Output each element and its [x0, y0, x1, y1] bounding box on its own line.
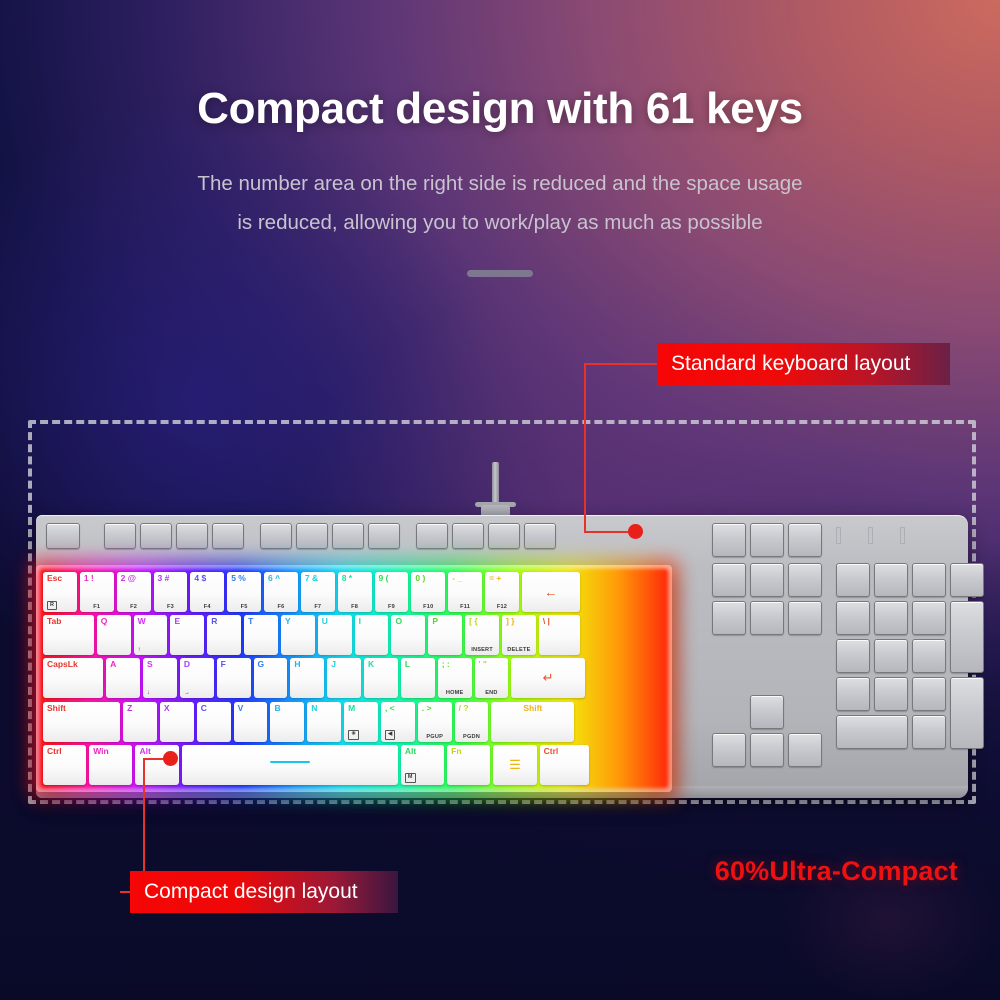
key-4-r0[interactable]: 4 $F4: [190, 572, 224, 612]
key-I-r1[interactable]: I: [355, 615, 389, 655]
key-Alt-r4[interactable]: AltM: [401, 745, 444, 785]
key-sublegend: ↓: [147, 690, 150, 696]
key-legend: \ |: [543, 617, 550, 626]
callout-dot-top: [628, 524, 643, 539]
full-key-numpad: [874, 563, 908, 597]
key-legend: Alt: [405, 747, 416, 756]
key-legend: W: [138, 617, 146, 626]
key-1-r0[interactable]: 1 !F1: [80, 572, 114, 612]
key-G-r2[interactable]: G: [254, 658, 288, 698]
key-U-r1[interactable]: U: [318, 615, 352, 655]
key-legend: H: [294, 660, 300, 669]
compact-60-keyboard: EscR1 !F12 @F23 #F34 $F45 %F56 ^F67 &F78…: [36, 565, 672, 792]
subtitle-line-1: The number area on the right side is red…: [0, 174, 1000, 195]
leader-line-top-a: [584, 363, 659, 365]
key-E-r1[interactable]: E: [170, 615, 204, 655]
full-key-f1: [104, 523, 136, 549]
key-sublegend: F10: [411, 604, 445, 610]
key--r0[interactable]: ←: [522, 572, 580, 612]
key-sublegend: END: [475, 690, 509, 696]
key--r2[interactable]: ; :HOME: [438, 658, 472, 698]
full-key-arrow: [712, 733, 746, 767]
key-legend: Esc: [47, 574, 62, 583]
key-legend: ] }: [506, 617, 515, 626]
key--r1[interactable]: \ |: [539, 615, 580, 655]
full-key-f5: [260, 523, 292, 549]
key-3-r0[interactable]: 3 #F3: [154, 572, 188, 612]
full-key-numpad-enter: [950, 677, 984, 749]
key-legend: I: [359, 617, 361, 626]
full-key-f10: [452, 523, 484, 549]
key-W-r1[interactable]: W↑: [134, 615, 168, 655]
full-key-nav: [788, 563, 822, 597]
key-sublegend: ◀: [385, 730, 395, 739]
full-key-esc: [46, 523, 80, 549]
key--r3[interactable]: , <◀: [381, 702, 415, 742]
key-legend: ☰: [493, 757, 536, 773]
key-legend: G: [258, 660, 265, 669]
indicator-led-4: [900, 527, 905, 544]
key-B-r3[interactable]: B: [270, 702, 304, 742]
full-key-arrow-up: [750, 695, 784, 729]
key-legend: 5 %: [231, 574, 246, 583]
full-key-numpad: [836, 639, 870, 673]
full-key-numpad-dot: [912, 715, 946, 749]
key-R-r1[interactable]: R: [207, 615, 241, 655]
key-legend: ↵: [511, 670, 584, 686]
key-sublegend: ↑: [138, 647, 141, 653]
key-V-r3[interactable]: V: [234, 702, 268, 742]
key-legend: 4 $: [194, 574, 206, 583]
subtitle-line-2: is reduced, allowing you to work/play as…: [0, 213, 1000, 234]
full-key-arrow: [788, 733, 822, 767]
key-legend: ' ": [479, 660, 487, 669]
key-7-r0[interactable]: 7 &F7: [301, 572, 335, 612]
key-legend: Win: [93, 747, 109, 756]
full-key-numpad: [836, 677, 870, 711]
key-legend: Tab: [47, 617, 61, 626]
key-sublegend: DELETE: [502, 647, 536, 653]
full-key-nav: [750, 563, 784, 597]
key-Win-r4[interactable]: Win: [89, 745, 132, 785]
key-legend: Ctrl: [47, 747, 62, 756]
key-CapsLk-r2[interactable]: CapsLk: [43, 658, 103, 698]
full-key-f4: [212, 523, 244, 549]
key-legend: T: [248, 617, 253, 626]
key-T-r1[interactable]: T: [244, 615, 278, 655]
key-A-r2[interactable]: A: [106, 658, 140, 698]
key-Ctrl-r4[interactable]: Ctrl: [43, 745, 86, 785]
key-legend: [ {: [469, 617, 478, 626]
key--r1[interactable]: ] }DELETE: [502, 615, 536, 655]
key-legend: Shift: [47, 704, 66, 713]
key--r4[interactable]: ☰: [493, 745, 536, 785]
key-sublegend: F7: [301, 604, 335, 610]
key-K-r2[interactable]: K: [364, 658, 398, 698]
key-2-r0[interactable]: 2 @F2: [117, 572, 151, 612]
key-legend: Shift: [491, 704, 574, 713]
full-key-numpad: [874, 677, 908, 711]
key-legend: ; :: [442, 660, 450, 669]
callout-standard-layout: Standard keyboard layout: [657, 343, 950, 385]
key-sublegend: F5: [227, 604, 261, 610]
key-legend: 2 @: [121, 574, 136, 583]
callout-compact-layout: Compact design layout: [130, 871, 398, 913]
product-marketing-image: Compact design with 61 keys The number a…: [0, 0, 1000, 1000]
key-0-r0[interactable]: 0 )F10: [411, 572, 445, 612]
key--r3[interactable]: . >PGUP: [418, 702, 452, 742]
key--r0[interactable]: = +F12: [485, 572, 519, 612]
full-key-f3: [176, 523, 208, 549]
full-key-numpad: [912, 601, 946, 635]
key-Shift-r3[interactable]: Shift: [491, 702, 574, 742]
key-D-r2[interactable]: D→: [180, 658, 214, 698]
indicator-led-3: [868, 527, 873, 544]
key-Tab-r1[interactable]: Tab: [43, 615, 94, 655]
key--r3[interactable]: / ?PGDN: [455, 702, 489, 742]
key-legend: 7 &: [305, 574, 318, 583]
key-legend: / ?: [459, 704, 469, 713]
key-sublegend: F12: [485, 604, 519, 610]
section-divider: [467, 270, 533, 277]
key-sublegend: R: [47, 601, 57, 610]
key-sublegend: F6: [264, 604, 298, 610]
spacebar-indicator: [270, 761, 310, 764]
key-legend: = +: [489, 574, 501, 583]
key-5-r0[interactable]: 5 %F5: [227, 572, 261, 612]
full-key-f8: [368, 523, 400, 549]
ultra-compact-label: 60%Ultra-Compact: [715, 856, 958, 887]
key-legend: O: [395, 617, 402, 626]
key-legend: CapsLk: [47, 660, 78, 669]
key-legend: R: [211, 617, 217, 626]
key-Y-r1[interactable]: Y: [281, 615, 315, 655]
key-legend: Q: [101, 617, 108, 626]
full-key-f11: [488, 523, 520, 549]
key-sublegend: F2: [117, 604, 151, 610]
key-legend: - _: [452, 574, 462, 583]
key-legend: Z: [127, 704, 132, 713]
key-legend: E: [174, 617, 180, 626]
key-legend: S: [147, 660, 153, 669]
full-key-nav-top: [712, 523, 746, 557]
key-P-r1[interactable]: P: [428, 615, 462, 655]
full-key-nav: [788, 601, 822, 635]
key-legend: 1 !: [84, 574, 94, 583]
key-space-r4[interactable]: [182, 745, 398, 785]
key-sublegend: F4: [190, 604, 224, 610]
key-legend: 8 *: [342, 574, 352, 583]
full-key-numpad: [950, 563, 984, 597]
key-legend: 3 #: [158, 574, 170, 583]
full-key-f6: [296, 523, 328, 549]
key-Q-r1[interactable]: Q: [97, 615, 131, 655]
key-X-r3[interactable]: X: [160, 702, 194, 742]
leader-line-top-c: [584, 531, 634, 533]
key-sublegend: →: [184, 690, 190, 696]
full-key-f12: [524, 523, 556, 549]
full-key-numpad: [912, 563, 946, 597]
key-Ctrl-r4[interactable]: Ctrl: [540, 745, 589, 785]
key-Shift-r3[interactable]: Shift: [43, 702, 120, 742]
full-key-numpad-zero: [836, 715, 908, 749]
key-legend: 6 ^: [268, 574, 280, 583]
key-legend: D: [184, 660, 190, 669]
key-sublegend: ☀: [348, 730, 359, 739]
key--r1[interactable]: [ {INSERT: [465, 615, 499, 655]
callout-dot-bottom: [163, 751, 178, 766]
key-6-r0[interactable]: 6 ^F6: [264, 572, 298, 612]
key-Esc-r0[interactable]: EscR: [43, 572, 77, 612]
full-key-nav: [750, 601, 784, 635]
key-sublegend: F3: [154, 604, 188, 610]
key-C-r3[interactable]: C: [197, 702, 231, 742]
key-Z-r3[interactable]: Z: [123, 702, 157, 742]
full-key-nav-top: [788, 523, 822, 557]
full-key-nav-top: [750, 523, 784, 557]
full-key-arrow: [750, 733, 784, 767]
key-legend: M: [348, 704, 355, 713]
full-key-numpad-plus: [950, 601, 984, 673]
full-key-nav: [712, 601, 746, 635]
key-legend: C: [201, 704, 207, 713]
key-legend: . >: [422, 704, 432, 713]
key-legend: , <: [385, 704, 395, 713]
key-legend: N: [311, 704, 317, 713]
key-sublegend: F11: [448, 604, 482, 610]
key-sublegend: M: [405, 773, 416, 782]
key-sublegend: PGDN: [455, 734, 489, 740]
key-Fn-r4[interactable]: Fn: [447, 745, 490, 785]
key--r2[interactable]: ↵: [511, 658, 584, 698]
key-F-r2[interactable]: F: [217, 658, 251, 698]
key-legend: X: [164, 704, 170, 713]
full-key-numpad: [912, 639, 946, 673]
indicator-led-2: [836, 527, 841, 544]
key-S-r2[interactable]: S↓: [143, 658, 177, 698]
key-M-r3[interactable]: M☀: [344, 702, 378, 742]
keycap-layer: EscR1 !F12 @F23 #F34 $F45 %F56 ^F67 &F78…: [40, 569, 668, 788]
page-title: Compact design with 61 keys: [0, 84, 1000, 134]
key-sublegend: F8: [338, 604, 372, 610]
key-legend: 9 (: [379, 574, 389, 583]
leader-line-top-b: [584, 363, 586, 533]
key-J-r2[interactable]: J: [327, 658, 361, 698]
key-legend: U: [322, 617, 328, 626]
key-L-r2[interactable]: L: [401, 658, 435, 698]
full-key-f2: [140, 523, 172, 549]
key-legend: K: [368, 660, 374, 669]
key-O-r1[interactable]: O: [391, 615, 425, 655]
key-legend: Y: [285, 617, 291, 626]
full-key-numpad: [836, 601, 870, 635]
full-key-numpad: [874, 601, 908, 635]
key-legend: ←: [522, 585, 580, 600]
key-8-r0[interactable]: 8 *F8: [338, 572, 372, 612]
key-legend: 0 ): [415, 574, 425, 583]
key-legend: A: [110, 660, 116, 669]
full-key-f9: [416, 523, 448, 549]
key-sublegend: F9: [375, 604, 409, 610]
key-legend: J: [331, 660, 336, 669]
key-H-r2[interactable]: H: [290, 658, 324, 698]
full-key-f7: [332, 523, 364, 549]
key-sublegend: F1: [80, 604, 114, 610]
key--r0[interactable]: - _F11: [448, 572, 482, 612]
full-key-numpad: [912, 677, 946, 711]
key-sublegend: PGUP: [418, 734, 452, 740]
full-key-nav: [712, 563, 746, 597]
key-legend: L: [405, 660, 410, 669]
key-legend: Alt: [139, 747, 150, 756]
key-legend: V: [238, 704, 244, 713]
key-legend: Ctrl: [544, 747, 559, 756]
key-legend: F: [221, 660, 226, 669]
key--r2[interactable]: ' "END: [475, 658, 509, 698]
key-legend: P: [432, 617, 438, 626]
key-legend: Fn: [451, 747, 461, 756]
key-N-r3[interactable]: N: [307, 702, 341, 742]
key-sublegend: INSERT: [465, 647, 499, 653]
full-key-numpad: [836, 563, 870, 597]
key-legend: B: [274, 704, 280, 713]
key-sublegend: HOME: [438, 690, 472, 696]
key-9-r0[interactable]: 9 (F9: [375, 572, 409, 612]
full-key-numpad: [874, 639, 908, 673]
